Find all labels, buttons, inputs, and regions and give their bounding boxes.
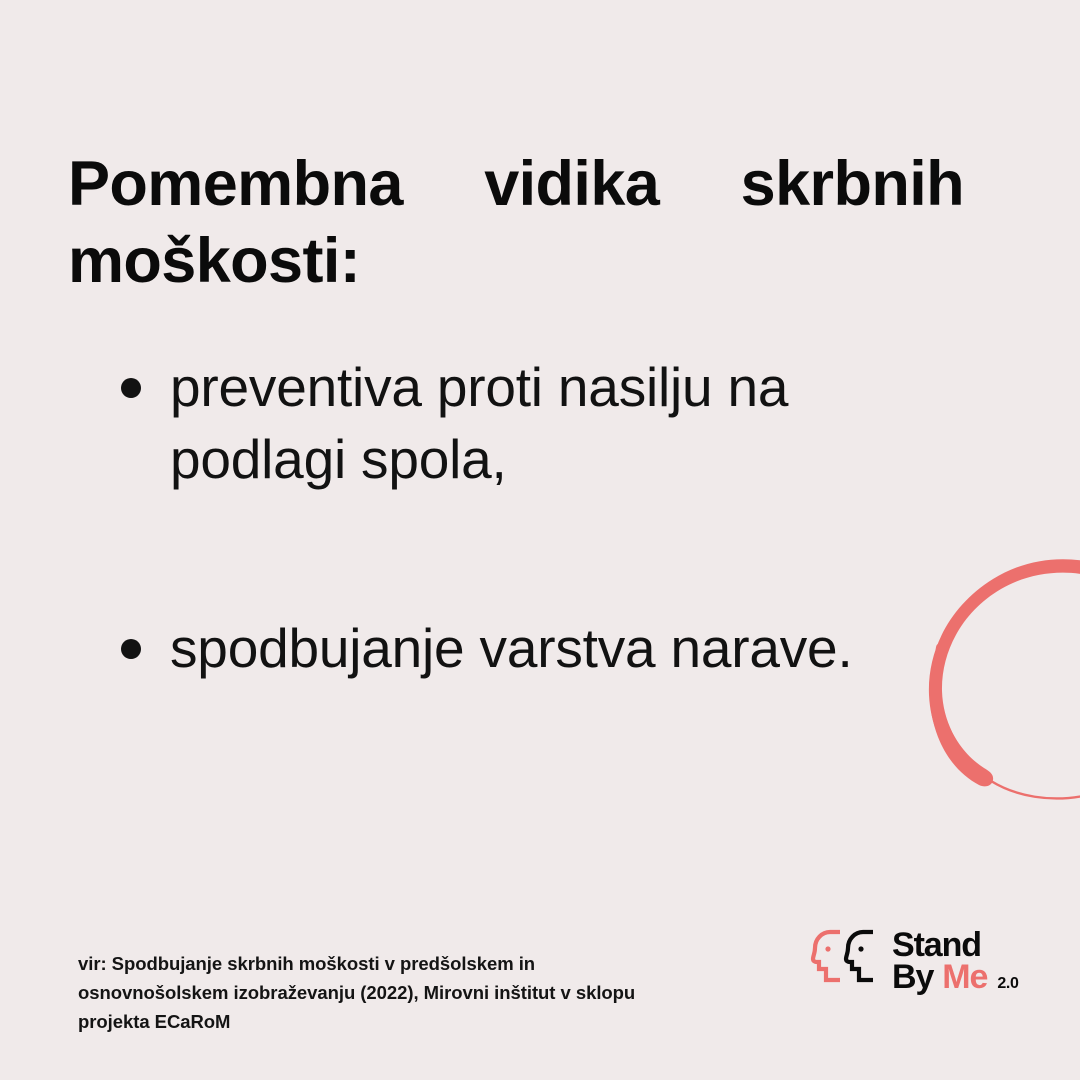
logo-text-stand: Stand [892, 929, 981, 961]
logo-version-label: 2.0 [997, 976, 1018, 991]
list-item: spodbujanje varstva narave. [118, 613, 958, 685]
logo-stand-by-me: Stand By Me 2.0 [810, 928, 1019, 994]
two-profile-heads-icon [810, 928, 882, 994]
key-points-list: preventiva proti nasilju na podlagi spol… [118, 352, 958, 685]
list-item-label: preventiva proti nasilju na podlagi spol… [170, 352, 958, 495]
source-citation: vir: Spodbujanje skrbnih moškosti v pred… [78, 949, 678, 1037]
logo-wordmark: Stand By Me 2.0 [892, 929, 1019, 994]
list-item-label: spodbujanje varstva narave. [170, 613, 958, 685]
infographic-card: Pomembna vidika skrbnih moškosti: preven… [0, 0, 1080, 1080]
bullet-dot-icon [121, 378, 141, 398]
logo-line-two: By Me 2.0 [892, 961, 1019, 993]
list-item: preventiva proti nasilju na podlagi spol… [118, 352, 958, 495]
logo-text-me: Me [942, 961, 987, 993]
page-title: Pomembna vidika skrbnih moškosti: [68, 146, 964, 377]
logo-text-by: By [892, 961, 933, 993]
bullet-dot-icon [121, 639, 141, 659]
logo-line-one: Stand [892, 929, 1019, 961]
